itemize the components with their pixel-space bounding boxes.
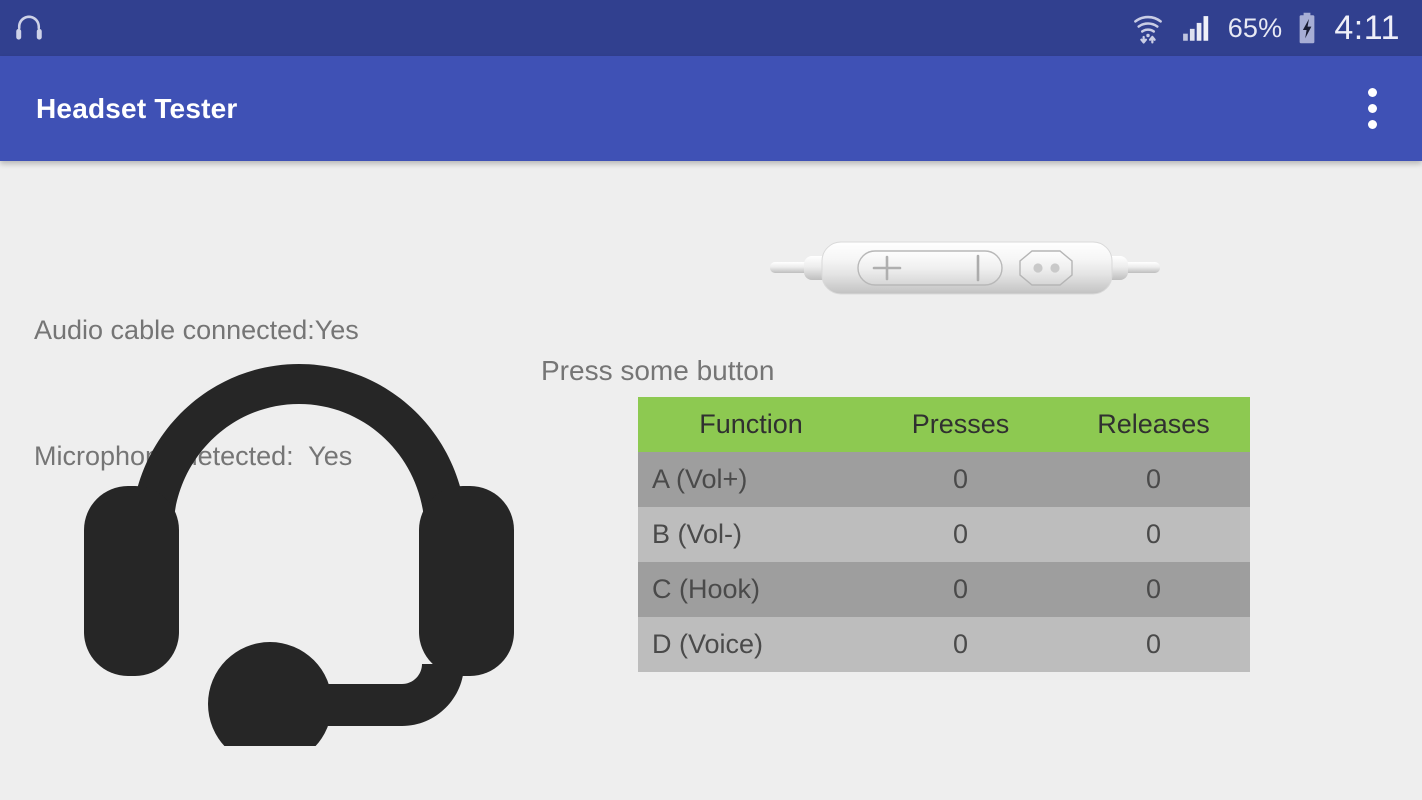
page-title: Headset Tester [36,93,237,125]
cell-presses: 0 [864,452,1057,507]
cell-releases: 0 [1057,617,1250,672]
table-row: C (Hook) 0 0 [638,562,1250,617]
button-events-table: Function Presses Releases A (Vol+) 0 0 B… [638,397,1250,672]
status-bar: 65% 4:11 [0,0,1422,56]
table-header-row: Function Presses Releases [638,397,1250,452]
battery-percent-label: 65% [1228,15,1283,42]
cell-function: D (Voice) [638,617,864,672]
cell-releases: 0 [1057,452,1250,507]
cell-releases: 0 [1057,562,1250,617]
status-bar-system-icons: 65% 4:11 [1130,10,1400,46]
column-header-releases: Releases [1057,397,1250,452]
phone-screen: 65% 4:11 Headset Tester Audio cable conn… [0,0,1422,800]
wifi-with-activity-icon [1130,10,1166,46]
table-row: D (Voice) 0 0 [638,617,1250,672]
cellular-signal-icon [1180,11,1214,45]
cell-function: B (Vol-) [638,507,864,562]
main-content: Audio cable connected:Yes Microphone det… [0,161,1422,800]
table-row: A (Vol+) 0 0 [638,452,1250,507]
cell-presses: 0 [864,617,1057,672]
press-prompt-label: Press some button [541,353,774,389]
battery-charging-icon [1296,11,1318,45]
overflow-dot-icon [1368,120,1377,129]
cell-function: A (Vol+) [638,452,864,507]
column-header-function: Function [638,397,864,452]
headphones-icon [12,11,46,45]
cell-function: C (Hook) [638,562,864,617]
cell-releases: 0 [1057,507,1250,562]
overflow-menu-button[interactable] [1344,69,1400,149]
inline-remote-control-image [770,237,1160,299]
status-bar-clock: 4:11 [1332,11,1400,45]
app-bar: Headset Tester [0,56,1422,161]
column-header-presses: Presses [864,397,1057,452]
table-body: A (Vol+) 0 0 B (Vol-) 0 0 C (Hook) 0 0 D… [638,452,1250,672]
status-bar-notifications [12,11,46,45]
audio-cable-status: Audio cable connected:Yes [34,309,359,351]
cell-presses: 0 [864,507,1057,562]
overflow-dot-icon [1368,88,1377,97]
headset-with-microphone-icon [74,346,524,746]
overflow-dot-icon [1368,104,1377,113]
cell-presses: 0 [864,562,1057,617]
table-row: B (Vol-) 0 0 [638,507,1250,562]
table-header: Function Presses Releases [638,397,1250,452]
